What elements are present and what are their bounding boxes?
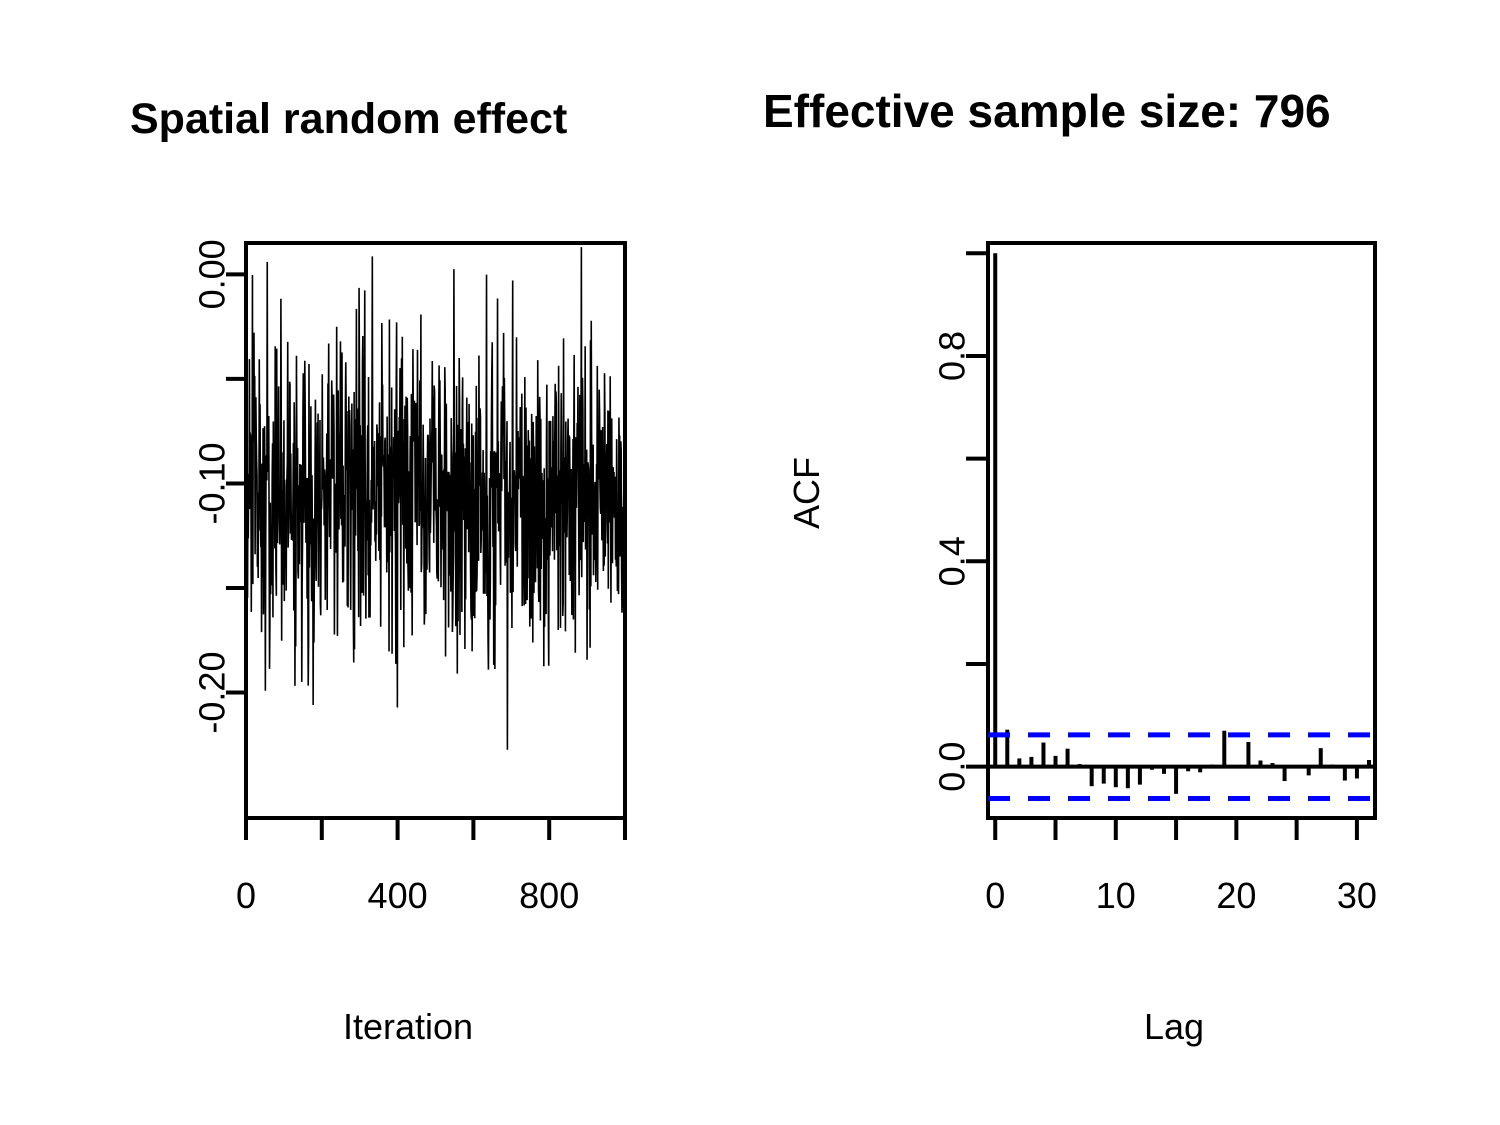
- acf-plot-svg: 0.00.40.8 0102030: [750, 0, 1500, 1125]
- acf-plot-panel: Effective sample size: 796 0.00.40.8 010…: [750, 0, 1500, 1125]
- acf-plot-bars: [988, 253, 1375, 794]
- trace-plot-y-axis: 0.00-0.10-0.20: [192, 239, 247, 733]
- x-tick-label: 800: [519, 875, 579, 916]
- trace-line: [246, 247, 625, 750]
- acf-bar-group: [995, 253, 1369, 794]
- trace-plot-x-axis-label: Iteration: [343, 1006, 473, 1048]
- trace-plot-panel: Spatial random effect 0.00-0.10-0.20 040…: [0, 0, 750, 1125]
- acf-plot-x-axis-label: Lag: [1144, 1006, 1204, 1048]
- acf-plot-y-axis: 0.00.40.8: [932, 253, 989, 791]
- x-tick-label: 400: [368, 875, 428, 916]
- y-tick-label: 0.00: [192, 239, 233, 309]
- x-tick-label: 30: [1337, 875, 1377, 916]
- x-tick-label: 0: [985, 875, 1005, 916]
- y-tick-label: 0.8: [932, 331, 973, 381]
- x-tick-label: 0: [236, 875, 256, 916]
- trace-plot-data: [246, 247, 625, 750]
- y-tick-label: 0.0: [932, 742, 973, 792]
- acf-plot-y-axis-label: ACF: [786, 457, 828, 529]
- trace-plot-title: Spatial random effect: [130, 98, 567, 141]
- acf-plot-title: Effective sample size: 796: [763, 88, 1331, 134]
- figure-canvas: Spatial random effect 0.00-0.10-0.20 040…: [0, 0, 1500, 1125]
- acf-plot-x-axis: 0102030: [985, 818, 1377, 916]
- trace-plot-svg: 0.00-0.10-0.20 0400800: [0, 0, 750, 1125]
- x-tick-label: 20: [1216, 875, 1256, 916]
- y-tick-label: -0.10: [192, 442, 233, 524]
- trace-plot-x-axis: 0400800: [236, 818, 625, 916]
- y-tick-label: -0.20: [192, 652, 233, 734]
- y-tick-label: 0.4: [932, 536, 973, 586]
- x-tick-label: 10: [1096, 875, 1136, 916]
- acf-plot-frame: [988, 243, 1375, 818]
